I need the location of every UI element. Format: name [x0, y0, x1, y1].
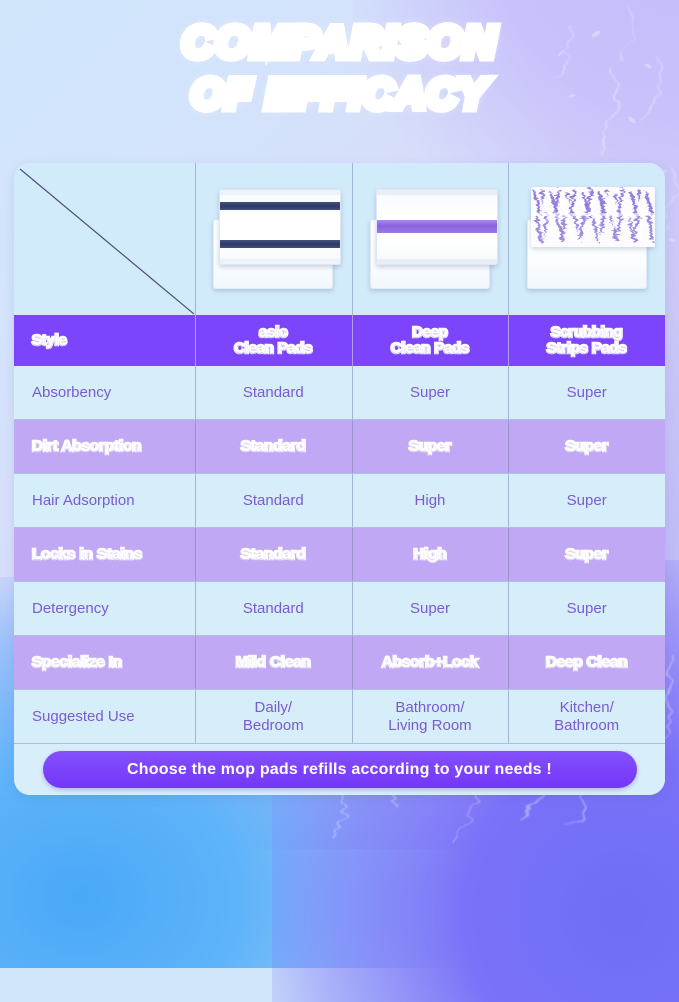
- column-divider: [508, 163, 509, 315]
- row-value: Super: [567, 600, 607, 618]
- row-label-cell: Locks in Stains: [14, 528, 195, 581]
- banner-text: Choose the mop pads refills according to…: [127, 761, 552, 779]
- row-value: Standard: [241, 438, 306, 456]
- column-divider: [195, 420, 196, 473]
- column-divider: [508, 582, 509, 635]
- row-value: Standard: [243, 492, 304, 510]
- scrubbing-strips-pads-image: [521, 183, 653, 295]
- column-divider: [352, 690, 353, 743]
- column-divider: [352, 163, 353, 315]
- column-divider: [508, 690, 509, 743]
- row-value-cell: Bathroom/ Living Room: [352, 690, 509, 743]
- row-label: Dirt Absorption: [14, 438, 195, 456]
- row-value-cell: Daily/ Bedroom: [195, 690, 352, 743]
- header-cell-basic: asic Clean Pads: [195, 315, 352, 366]
- column-divider: [508, 366, 509, 419]
- column-divider: [195, 582, 196, 635]
- product-cell-scrubbing: [508, 163, 665, 315]
- column-divider: [352, 582, 353, 635]
- table-header-row: Style asic Clean Pads Deep Clean Pads Sc…: [14, 315, 665, 366]
- row-value-cell: Standard: [195, 366, 352, 419]
- row-value: High: [413, 546, 446, 564]
- row-value-cell: Super: [508, 528, 665, 581]
- corner-diagonal-cell: [14, 163, 195, 315]
- row-value-cell: High: [352, 528, 509, 581]
- row-value-cell: Super: [352, 582, 509, 635]
- pad-bottom-edge: [377, 259, 497, 264]
- row-label: Detergency: [14, 600, 195, 618]
- row-value-cell: Deep Clean: [508, 636, 665, 689]
- table-row: Suggested UseDaily/ BedroomBathroom/ Liv…: [14, 690, 665, 743]
- title-line-2: OF EFFICACY: [191, 70, 488, 118]
- column-divider: [195, 474, 196, 527]
- table-body: AbsorbencyStandardSuperSuperDirt Absorpt…: [14, 366, 665, 744]
- column-divider: [195, 636, 196, 689]
- row-value: Standard: [243, 384, 304, 402]
- row-value-cell: Standard: [195, 528, 352, 581]
- row-label-cell: Specialize In: [14, 636, 195, 689]
- header-cell-scrubbing: Scrubbing Strips Pads: [508, 315, 665, 366]
- column-divider: [508, 315, 509, 366]
- column-divider: [352, 636, 353, 689]
- row-value: Deep Clean: [546, 654, 628, 672]
- column-divider: [352, 420, 353, 473]
- column-divider: [352, 528, 353, 581]
- table-row: Dirt AbsorptionStandardSuperSuper: [14, 420, 665, 473]
- table-row: DetergencyStandardSuperSuper: [14, 582, 665, 635]
- column-divider: [195, 366, 196, 419]
- header-label-deep: Deep Clean Pads: [391, 325, 469, 357]
- pad-bottom-edge: [220, 259, 340, 264]
- row-label: Specialize In: [14, 654, 195, 672]
- title-line-1-text: COMPARISON: [182, 18, 497, 67]
- product-image-row: [14, 163, 665, 315]
- row-label: Hair Adsorption: [14, 492, 195, 510]
- row-value: Mild Clean: [236, 654, 311, 672]
- product-cell-deep: [352, 163, 509, 315]
- row-value: High: [415, 492, 446, 510]
- column-divider: [508, 474, 509, 527]
- column-divider: [195, 690, 196, 743]
- row-value-cell: Super: [352, 366, 509, 419]
- table-row: Locks in StainsStandardHighSuper: [14, 528, 665, 581]
- diagonal-divider-icon: [14, 163, 195, 315]
- pad-top-edge: [377, 190, 497, 195]
- row-value-cell: Standard: [195, 474, 352, 527]
- row-value-cell: Super: [508, 420, 665, 473]
- row-value: Standard: [241, 546, 306, 564]
- column-divider: [508, 420, 509, 473]
- title-line-1: COMPARISON: [182, 18, 497, 68]
- row-value-cell: Mild Clean: [195, 636, 352, 689]
- table-row: AbsorbencyStandardSuperSuper: [14, 366, 665, 419]
- navy-stripe-bottom: [220, 240, 340, 248]
- row-label-cell: Dirt Absorption: [14, 420, 195, 473]
- table-row: Specialize InMild CleanAbsorb+LockDeep C…: [14, 636, 665, 689]
- column-divider: [508, 528, 509, 581]
- deep-clean-pads-image: [364, 183, 496, 295]
- banner-area: Choose the mop pads refills according to…: [14, 744, 665, 795]
- row-value: Absorb+Lock: [382, 654, 478, 672]
- row-label-cell: Hair Adsorption: [14, 474, 195, 527]
- row-label-cell: Detergency: [14, 582, 195, 635]
- row-label: Absorbency: [14, 384, 195, 402]
- row-value-cell: High: [352, 474, 509, 527]
- navy-stripe-top: [220, 202, 340, 210]
- call-to-action-banner[interactable]: Choose the mop pads refills according to…: [43, 751, 637, 788]
- basic-clean-pads-image: [207, 183, 339, 295]
- header-cell-style: Style: [14, 315, 195, 366]
- page-title: COMPARISON OF EFFICACY: [0, 18, 679, 130]
- row-value-cell: Super: [508, 582, 665, 635]
- row-label-cell: Suggested Use: [14, 690, 195, 743]
- column-divider: [352, 366, 353, 419]
- row-value-cell: Standard: [195, 582, 352, 635]
- header-label-basic: asic Clean Pads: [234, 325, 312, 357]
- row-label: Suggested Use: [14, 708, 195, 726]
- title-line-2-text: OF EFFICACY: [191, 70, 488, 117]
- row-label-cell: Absorbency: [14, 366, 195, 419]
- row-value-cell: Absorb+Lock: [352, 636, 509, 689]
- purple-stripe: [377, 220, 497, 233]
- row-label: Locks in Stains: [14, 546, 195, 564]
- pad-front-layer: [219, 189, 341, 265]
- row-value: Bathroom/ Living Room: [388, 699, 471, 735]
- row-value: Super: [565, 438, 608, 456]
- column-divider: [352, 474, 353, 527]
- row-value-cell: Super: [508, 366, 665, 419]
- row-value: Super: [567, 384, 607, 402]
- row-value: Super: [410, 600, 450, 618]
- scrubbing-strip-texture: [531, 187, 655, 247]
- row-value-cell: Standard: [195, 420, 352, 473]
- header-label-scrubbing: Scrubbing Strips Pads: [547, 325, 627, 357]
- row-value: Super: [410, 384, 450, 402]
- column-divider: [195, 315, 196, 366]
- product-cell-basic: [195, 163, 352, 315]
- row-value: Kitchen/ Bathroom: [554, 699, 619, 735]
- row-value: Super: [409, 438, 452, 456]
- comparison-table-card: Style asic Clean Pads Deep Clean Pads Sc…: [14, 163, 665, 795]
- table-row: Hair AdsorptionStandardHighSuper: [14, 474, 665, 527]
- header-cell-deep: Deep Clean Pads: [352, 315, 509, 366]
- row-value: Super: [567, 492, 607, 510]
- row-value-cell: Kitchen/ Bathroom: [508, 690, 665, 743]
- pad-top-edge: [220, 190, 340, 195]
- row-value-cell: Super: [508, 474, 665, 527]
- column-divider: [352, 315, 353, 366]
- column-divider: [195, 163, 196, 315]
- row-value-cell: Super: [352, 420, 509, 473]
- column-divider: [508, 636, 509, 689]
- row-value: Standard: [243, 600, 304, 618]
- header-label-style: Style: [14, 333, 195, 349]
- column-divider: [195, 528, 196, 581]
- row-value: Super: [565, 546, 608, 564]
- row-value: Daily/ Bedroom: [243, 699, 304, 735]
- pad-front-layer: [376, 189, 498, 265]
